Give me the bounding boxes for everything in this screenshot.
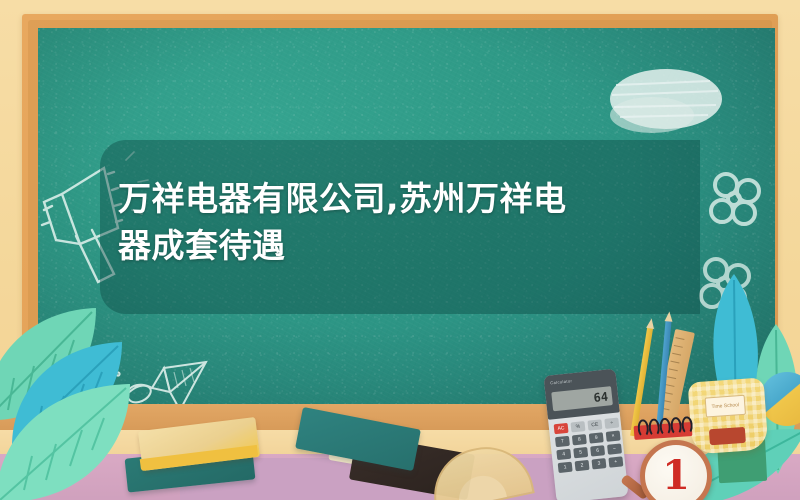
calculator-key[interactable]: 5 bbox=[573, 447, 588, 458]
magnifier-number: 1 bbox=[662, 456, 690, 496]
page-title: 万祥电器有限公司,苏州万祥电器成套待遇 bbox=[118, 176, 588, 270]
calculator-key[interactable]: AC bbox=[554, 423, 569, 434]
calculator-key[interactable]: 8 bbox=[572, 434, 587, 445]
calculator-brand: Calculator bbox=[550, 378, 572, 385]
calculator-key[interactable]: CE bbox=[587, 419, 602, 430]
calculator-key[interactable]: 2 bbox=[575, 460, 590, 471]
calculator-keypad[interactable]: AC % CE ÷ 7 8 9 × 4 5 6 − 1 2 3 + bbox=[554, 418, 624, 474]
calculator-key[interactable]: 3 bbox=[591, 458, 606, 469]
calculator-display: 64 bbox=[551, 386, 613, 411]
calculator-key[interactable]: 4 bbox=[556, 449, 571, 460]
calculator-key[interactable]: × bbox=[606, 430, 621, 441]
calculator-key[interactable]: 7 bbox=[555, 436, 570, 447]
backpack-pocket bbox=[709, 427, 746, 445]
calculator-key[interactable]: % bbox=[571, 421, 586, 432]
backpack-tag: Time School bbox=[705, 395, 746, 418]
backpack-icon: Time School bbox=[688, 377, 769, 454]
calculator-key[interactable]: + bbox=[608, 456, 623, 467]
calculator-top: Calculator 64 bbox=[544, 369, 620, 420]
calculator-key[interactable]: 1 bbox=[558, 462, 573, 473]
calculator-key[interactable]: − bbox=[607, 443, 622, 454]
calculator-icon: Calculator 64 AC % CE ÷ 7 8 9 × 4 5 6 − … bbox=[544, 369, 629, 500]
calculator-key[interactable]: 6 bbox=[590, 445, 605, 456]
calculator-key[interactable]: ÷ bbox=[604, 418, 619, 429]
poster-canvas: 万祥电器有限公司,苏州万祥电器成套待遇 bbox=[0, 0, 800, 500]
calculator-key[interactable]: 9 bbox=[589, 432, 604, 443]
